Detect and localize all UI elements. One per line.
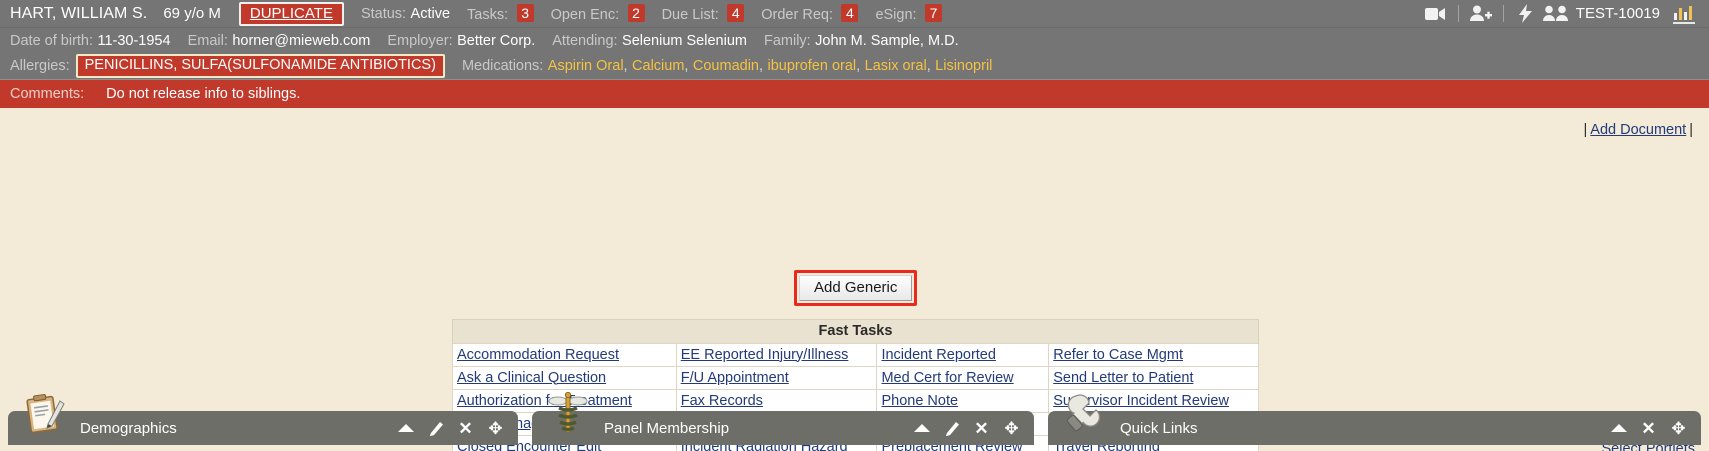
fast-tasks-title: Fast Tasks xyxy=(453,320,1259,344)
dob-field: Date of birth: 11-30-1954 xyxy=(10,32,171,50)
employer-value: Better Corp. xyxy=(457,33,535,49)
medication-item[interactable]: ibuprofen oral xyxy=(767,58,856,74)
add-document-row: |Add Document| xyxy=(1584,122,1693,138)
medication-separator: , xyxy=(759,58,763,74)
medication-item[interactable]: Lasix oral xyxy=(865,58,927,74)
portlet-title: Demographics xyxy=(80,420,177,437)
employer-label: Employer: xyxy=(387,33,452,49)
patient-test-id: TEST-10019 xyxy=(1576,5,1660,22)
portlet-quick-links[interactable]: Quick Links ✕ ✥ xyxy=(1048,411,1701,445)
fast-task-link[interactable]: Accommodation Request xyxy=(457,347,619,363)
counter-tasks[interactable]: Tasks: 3 xyxy=(467,4,534,24)
email-value: horner@mieweb.com xyxy=(232,33,370,49)
fast-task-link[interactable]: Ask a Clinical Question xyxy=(457,370,606,386)
counter-due-list-label: Due List: xyxy=(662,7,719,23)
table-cell: EE Reported Injury/Illness xyxy=(676,344,877,367)
patient-age-sex: 69 y/o M xyxy=(163,5,221,22)
email-field: Email: horner@mieweb.com xyxy=(188,32,371,50)
fast-task-link[interactable]: Refer to Case Mgmt xyxy=(1053,347,1183,363)
add-generic-highlight: Add Generic xyxy=(794,270,917,306)
table-cell: Refer to Case Mgmt xyxy=(1049,344,1259,367)
move-arrows-icon[interactable]: ✥ xyxy=(487,420,504,437)
bar-chart-icon[interactable] xyxy=(1669,3,1699,25)
patient-status: Status: Active xyxy=(361,5,450,23)
add-person-icon[interactable] xyxy=(1466,3,1496,25)
add-document-suffix: | xyxy=(1689,122,1693,138)
fast-task-link[interactable]: F/U Appointment xyxy=(681,370,789,386)
allergies-value[interactable]: PENICILLINS, SULFA(SULFONAMIDE ANTIBIOTI… xyxy=(76,54,445,78)
two-people-icon[interactable] xyxy=(1541,3,1571,25)
portlet-actions: ✕ ✥ xyxy=(913,420,1020,437)
portlet-panel-membership[interactable]: Panel Membership ✕ ✥ xyxy=(532,411,1034,445)
medication-separator: , xyxy=(624,58,628,74)
table-cell: Incident Reported xyxy=(877,344,1049,367)
table-cell: Send Letter to Patient xyxy=(1049,367,1259,390)
close-x-icon[interactable]: ✕ xyxy=(973,420,990,437)
icon-divider xyxy=(1503,5,1504,22)
medications-label: Medications: xyxy=(462,58,543,74)
close-x-icon[interactable]: ✕ xyxy=(1640,420,1657,437)
counter-order-req-value[interactable]: 4 xyxy=(841,4,858,22)
table-row: Accommodation Request EE Reported Injury… xyxy=(453,344,1259,367)
wrench-icon xyxy=(1062,392,1106,436)
patient-status-value: Active xyxy=(411,6,451,22)
comments-bar: Comments: Do not release info to sibling… xyxy=(0,79,1709,108)
email-label: Email: xyxy=(188,33,228,49)
duplicate-badge[interactable]: DUPLICATE xyxy=(239,2,344,26)
medication-separator: , xyxy=(684,58,688,74)
fast-task-link[interactable]: Med Cert for Review xyxy=(881,370,1013,386)
patient-banner-row-clinical: Allergies: PENICILLINS, SULFA(SULFONAMID… xyxy=(0,53,1709,79)
video-camera-icon[interactable] xyxy=(1421,3,1451,25)
portlet-title: Quick Links xyxy=(1120,420,1198,437)
patient-status-label: Status: xyxy=(361,6,406,22)
portlet-bar-container: Demographics ✕ ✥ xyxy=(0,399,1709,445)
table-row: Ask a Clinical Question F/U Appointment … xyxy=(453,367,1259,390)
main-content: |Add Document| Add Generic Fast Tasks Ac… xyxy=(0,108,1709,445)
portlet-actions: ✕ ✥ xyxy=(397,420,504,437)
clipboard-pencil-icon xyxy=(22,392,66,436)
table-cell: Med Cert for Review xyxy=(877,367,1049,390)
fast-task-link[interactable]: Send Letter to Patient xyxy=(1053,370,1193,386)
employer-field: Employer: Better Corp. xyxy=(387,32,535,50)
collapse-caret-icon[interactable] xyxy=(913,420,930,437)
medication-item[interactable]: Lisinopril xyxy=(935,58,992,74)
edit-pencil-icon[interactable] xyxy=(943,420,960,437)
attending-label: Attending: xyxy=(552,33,617,49)
collapse-caret-icon[interactable] xyxy=(397,420,414,437)
portlet-title: Panel Membership xyxy=(604,420,729,437)
portlet-actions: ✕ ✥ xyxy=(1610,420,1687,437)
close-x-icon[interactable]: ✕ xyxy=(457,420,474,437)
add-document-prefix: | xyxy=(1584,122,1588,138)
counter-due-list-value[interactable]: 4 xyxy=(727,4,744,22)
icon-divider xyxy=(1458,5,1459,22)
family-label: Family: xyxy=(764,33,811,49)
edit-pencil-icon[interactable] xyxy=(427,420,444,437)
table-cell: F/U Appointment xyxy=(676,367,877,390)
comments-value: Do not release info to siblings. xyxy=(106,86,300,102)
medication-separator: , xyxy=(856,58,860,74)
counter-tasks-label: Tasks: xyxy=(467,7,508,23)
table-cell: Accommodation Request xyxy=(453,344,677,367)
fast-task-link[interactable]: Incident Reported xyxy=(881,347,995,363)
patient-name: HART, WILLIAM S. xyxy=(10,5,147,23)
medications-field: Medications: Aspirin Oral, Calcium, Coum… xyxy=(462,57,992,75)
attending-field: Attending: Selenium Selenium xyxy=(552,32,747,50)
counter-due-list[interactable]: Due List: 4 xyxy=(662,4,745,24)
attending-value: Selenium Selenium xyxy=(622,33,747,49)
fast-tasks-header-row: Fast Tasks xyxy=(453,320,1259,344)
counter-esign-label: eSign: xyxy=(875,7,916,23)
medication-item[interactable]: Coumadin xyxy=(693,58,759,74)
move-arrows-icon[interactable]: ✥ xyxy=(1670,420,1687,437)
medication-separator: , xyxy=(927,58,931,74)
add-document-link[interactable]: Add Document xyxy=(1590,122,1686,138)
counter-esign[interactable]: eSign: 7 xyxy=(875,4,942,24)
banner-icon-toolbar: TEST-10019 xyxy=(1421,3,1699,25)
caduceus-icon xyxy=(546,392,590,436)
allergies-label: Allergies: xyxy=(10,58,70,74)
counter-order-req-label: Order Req: xyxy=(761,7,833,23)
counter-open-enc-label: Open Enc: xyxy=(551,7,620,23)
counter-order-req[interactable]: Order Req: 4 xyxy=(761,4,858,24)
comments-label: Comments: xyxy=(10,86,84,102)
portlet-demographics[interactable]: Demographics ✕ ✥ xyxy=(8,411,518,445)
counter-tasks-value[interactable]: 3 xyxy=(517,4,534,22)
dob-label: Date of birth: xyxy=(10,33,93,49)
counter-open-enc-value[interactable]: 2 xyxy=(628,4,645,22)
add-generic-button[interactable]: Add Generic xyxy=(799,275,912,301)
fast-task-link[interactable]: EE Reported Injury/Illness xyxy=(681,347,849,363)
dob-value: 11-30-1954 xyxy=(97,33,170,49)
counter-esign-value[interactable]: 7 xyxy=(925,4,942,22)
lightning-bolt-icon[interactable] xyxy=(1511,3,1541,25)
counter-open-enc[interactable]: Open Enc: 2 xyxy=(551,4,645,24)
medication-item[interactable]: Aspirin Oral xyxy=(548,58,624,74)
patient-banner-row-details: Date of birth: 11-30-1954 Email: horner@… xyxy=(0,28,1709,53)
move-arrows-icon[interactable]: ✥ xyxy=(1003,420,1020,437)
table-cell: Ask a Clinical Question xyxy=(453,367,677,390)
patient-banner: HART, WILLIAM S. 69 y/o M DUPLICATE Stat… xyxy=(0,0,1709,79)
collapse-caret-icon[interactable] xyxy=(1610,420,1627,437)
family-field: Family: John M. Sample, M.D. xyxy=(764,32,959,50)
medication-item[interactable]: Calcium xyxy=(632,58,684,74)
family-value: John M. Sample, M.D. xyxy=(815,33,958,49)
patient-banner-row-primary: HART, WILLIAM S. 69 y/o M DUPLICATE Stat… xyxy=(0,0,1709,28)
